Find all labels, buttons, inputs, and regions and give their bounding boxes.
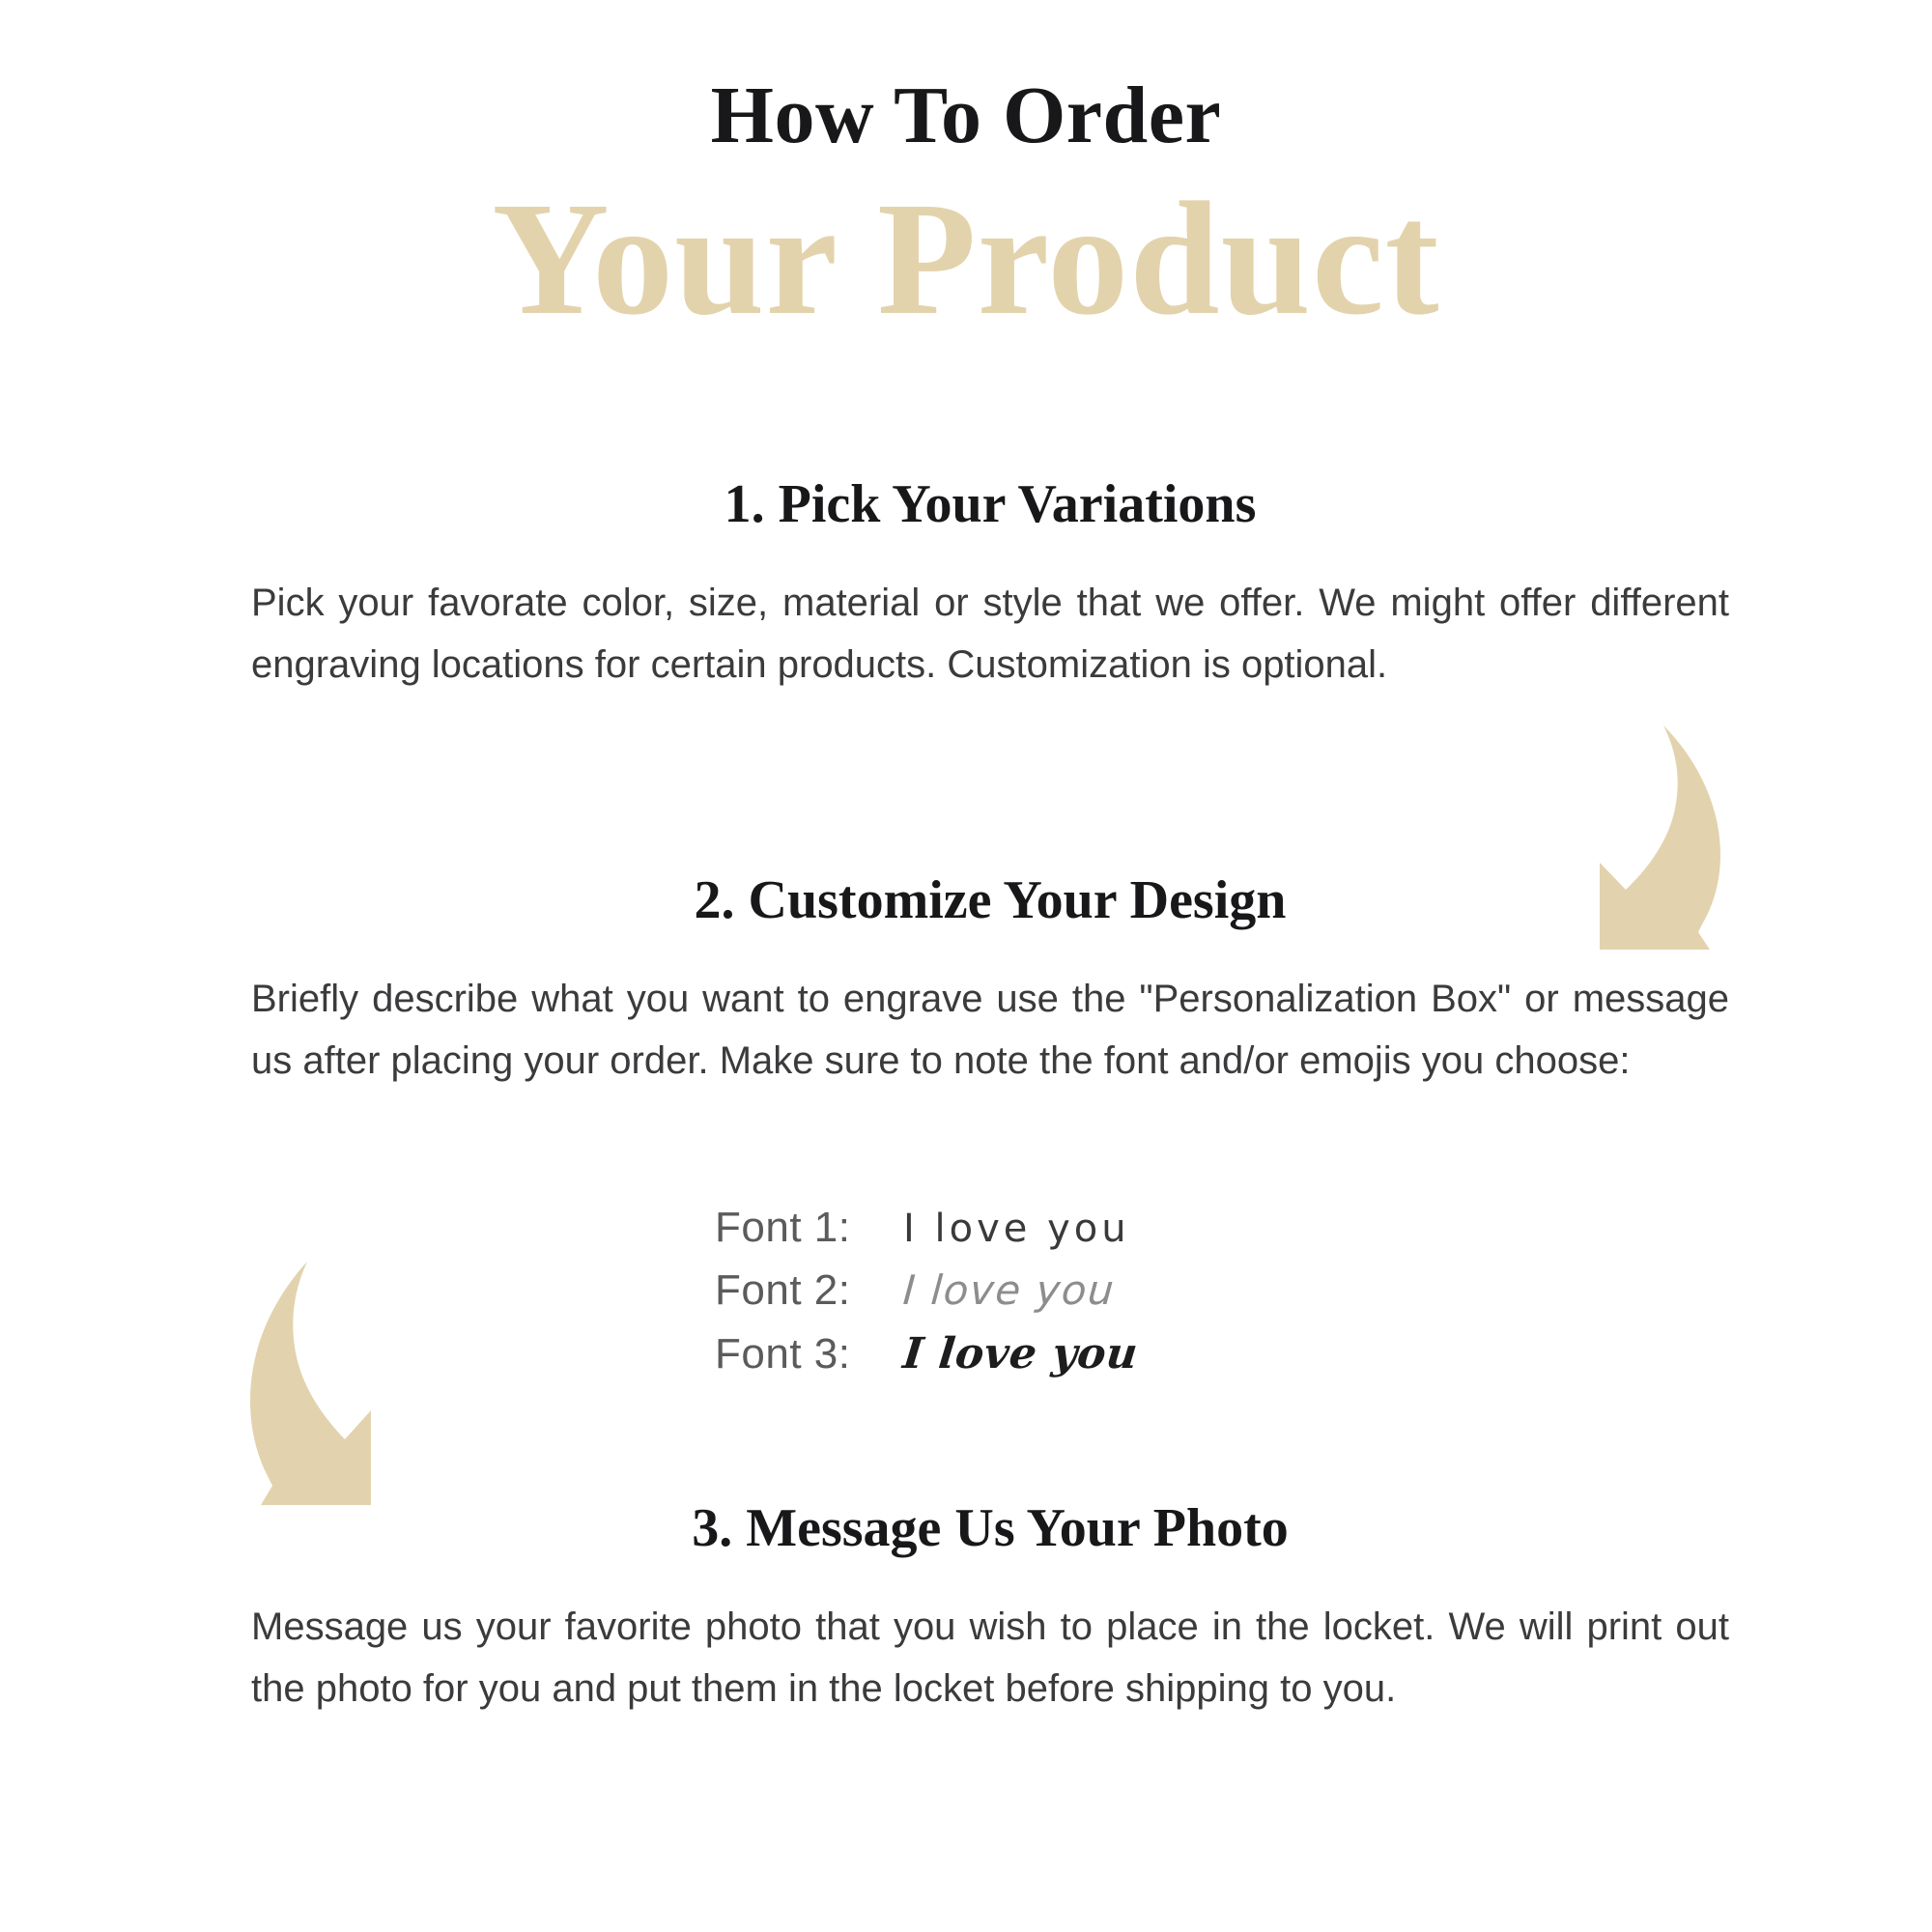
how-to-order-infographic: How To Order Your Product 1. Pick Your V… <box>0 0 1932 1932</box>
section-customize-your-design: 2. Customize Your Design Briefly describ… <box>251 871 1729 1093</box>
section-heading: 3. Message Us Your Photo <box>251 1499 1729 1559</box>
font-sample-preview: I love you <box>900 1329 1140 1378</box>
font-sample-row: Font 1: I love you <box>715 1204 1217 1266</box>
font-sample-preview: I love you <box>901 1266 1117 1314</box>
page-subtitle: Your Product <box>0 174 1932 344</box>
section-pick-your-variations: 1. Pick Your Variations Pick your favora… <box>251 475 1729 696</box>
font-sample-label: Font 2: <box>715 1266 903 1315</box>
font-sample-list: Font 1: I love you Font 2: I love you Fo… <box>0 1204 1932 1392</box>
section-body: Message us your favorite photo that you … <box>251 1596 1729 1721</box>
font-sample-label: Font 3: <box>715 1330 903 1378</box>
header: How To Order Your Product <box>0 75 1932 344</box>
font-sample-preview: I love you <box>903 1207 1130 1251</box>
section-message-us-your-photo: 3. Message Us Your Photo Message us your… <box>251 1499 1729 1720</box>
font-sample-label: Font 1: <box>715 1204 903 1252</box>
font-sample-row: Font 3: I love you <box>715 1329 1217 1392</box>
section-heading: 1. Pick Your Variations <box>251 475 1729 535</box>
section-heading: 2. Customize Your Design <box>251 871 1729 931</box>
section-body: Pick your favorate color, size, material… <box>251 572 1729 697</box>
section-body: Briefly describe what you want to engrav… <box>251 968 1729 1094</box>
page-title: How To Order <box>0 75 1932 156</box>
font-sample-row: Font 2: I love you <box>715 1266 1217 1329</box>
